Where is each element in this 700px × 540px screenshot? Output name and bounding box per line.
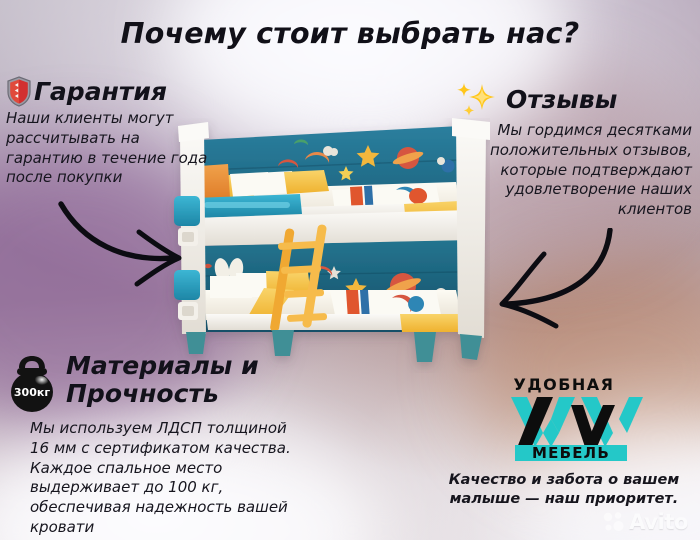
shield-icon xyxy=(6,76,32,107)
materials-heading: Материалы и Прочность xyxy=(66,352,304,408)
feature-block-guarantee: Гарантия Наши клиенты могут рассчитывать… xyxy=(6,76,221,188)
company-logo: УДОБНАЯ МЕБЕЛЬ xyxy=(485,375,643,467)
feature-block-reviews: Отзывы Мы гордимся десятками положительн… xyxy=(456,82,692,220)
brand-tagline: Качество и забота о вашем малыше — наш п… xyxy=(438,471,690,508)
logo-bottom-word: МЕБЕЛЬ xyxy=(532,444,610,462)
avito-watermark: Avito xyxy=(603,510,688,534)
poster-canvas: Почему стоит выбрать нас? xyxy=(0,0,700,540)
logo-top-word: УДОБНАЯ xyxy=(514,375,615,394)
reviews-body: Мы гордимся десятками положительных отзы… xyxy=(456,121,692,220)
kettlebell-weight-label: 300кг xyxy=(14,386,50,399)
page-title: Почему стоит выбрать нас? xyxy=(0,17,700,50)
materials-body: Мы используем ЛДСП толщиной 16 мм с серт… xyxy=(30,419,298,538)
avito-dots-icon xyxy=(603,511,625,533)
avito-watermark-text: Avito xyxy=(629,510,688,534)
guarantee-heading: Гарантия xyxy=(34,79,167,105)
sparkles-icon xyxy=(456,82,502,118)
reviews-heading: Отзывы xyxy=(506,87,617,113)
arrow-right-icon xyxy=(468,228,623,343)
guarantee-body: Наши клиенты могут рассчитывать на гаран… xyxy=(6,109,221,188)
brand-logo-block: УДОБНАЯ МЕБЕЛЬ Качество и забота о ваше xyxy=(438,375,690,508)
feature-block-materials: 300кг Материалы и Прочность Мы используе… xyxy=(4,352,304,538)
kettlebell-icon: 300кг xyxy=(4,354,60,414)
